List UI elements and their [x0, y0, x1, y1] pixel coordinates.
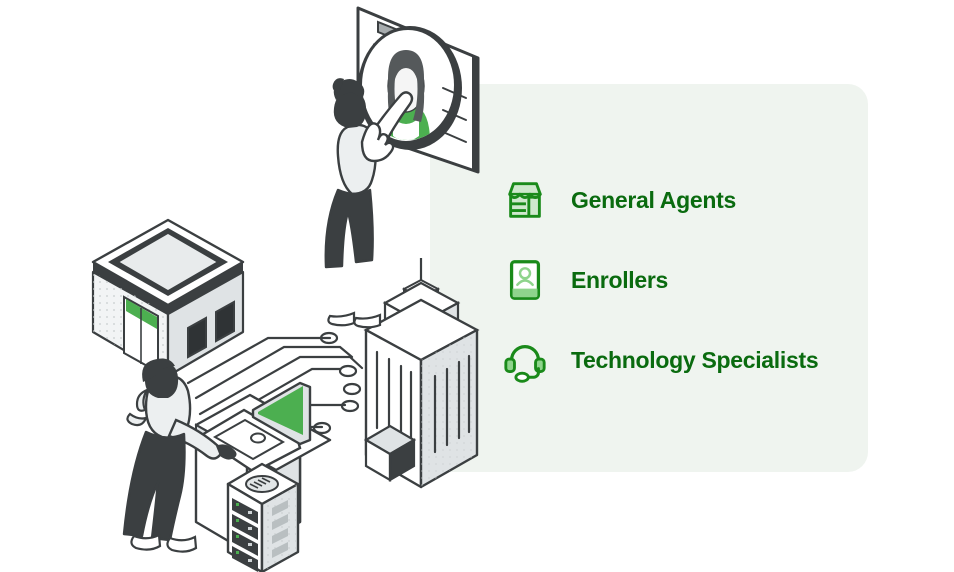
- server-rack: [228, 464, 298, 572]
- feature-item-enrollers[interactable]: Enrollers: [497, 240, 867, 320]
- retail-store-building: [93, 220, 243, 376]
- feature-label: General Agents: [571, 187, 736, 214]
- headset-icon: [497, 332, 553, 388]
- feature-item-technology-specialists[interactable]: Technology Specialists: [497, 320, 867, 400]
- storefront-icon: [497, 172, 553, 228]
- feature-item-general-agents[interactable]: General Agents: [497, 160, 867, 240]
- id-card-person-icon: [497, 252, 553, 308]
- feature-label: Enrollers: [571, 267, 668, 294]
- illustration-feature-banner: General Agents Enrollers: [0, 0, 954, 572]
- feature-list: General Agents Enrollers: [497, 160, 867, 400]
- feature-label: Technology Specialists: [571, 347, 818, 374]
- office-tower-building: [366, 258, 477, 487]
